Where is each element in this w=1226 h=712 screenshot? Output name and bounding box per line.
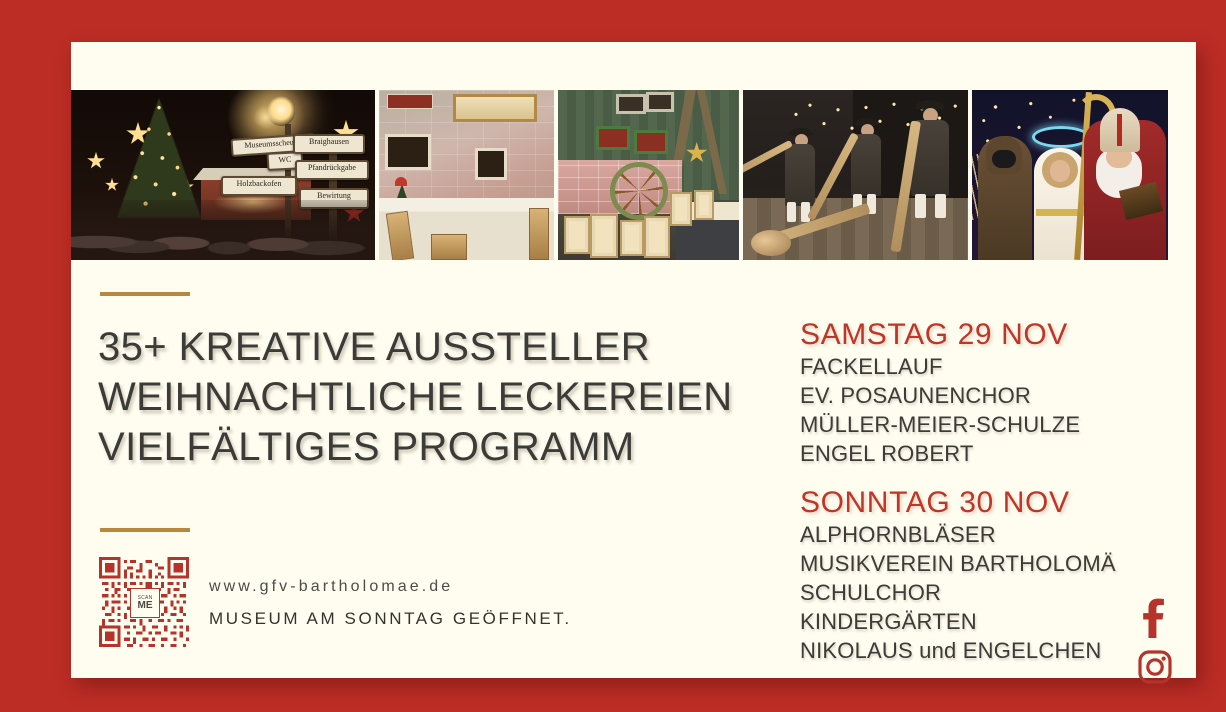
- divider-bottom: [100, 528, 190, 532]
- act-item: MÜLLER-MEIER-SCHULZE: [800, 410, 1130, 439]
- program-day-saturday: SAMSTAG 29 NOV FACKELLAUF EV. POSAUNENCH…: [800, 318, 1130, 468]
- mill-wheel: [610, 162, 668, 220]
- poster-body: 35+ KREATIVE AUSSTELLER WEIHNACHTLICHE L…: [71, 260, 1196, 678]
- wooden-lantern: [670, 192, 692, 226]
- player-boot: [787, 202, 796, 222]
- market-crowd: [71, 200, 375, 260]
- display-counter: [676, 220, 739, 260]
- window: [596, 126, 630, 150]
- window: [616, 94, 646, 114]
- wooden-lantern: [694, 190, 714, 220]
- footer-text-block: www.gfv-bartholomae.de MUSEUM AM SONNTAG…: [209, 578, 572, 629]
- photo-lanterns-timber-house: [558, 90, 739, 260]
- wooden-lantern: [620, 220, 644, 256]
- face-mask: [992, 150, 1016, 168]
- qr-scan-me-badge: SCAN ME: [130, 588, 160, 618]
- divider-top: [100, 292, 190, 296]
- day-title-sunday: SONNTAG 30 NOV: [800, 486, 1130, 520]
- player-body: [785, 144, 815, 206]
- wooden-plank: [529, 208, 549, 260]
- headline-line-2: WEIHNACHTLICHE LECKEREIEN: [98, 372, 733, 422]
- day-title-saturday: SAMSTAG 29 NOV: [800, 318, 1130, 352]
- act-item: ALPHORNBLÄSER: [800, 520, 1130, 549]
- website-url[interactable]: www.gfv-bartholomae.de: [209, 578, 572, 596]
- program-list: SAMSTAG 29 NOV FACKELLAUF EV. POSAUNENCH…: [800, 318, 1130, 665]
- qr-code[interactable]: SCAN ME: [99, 557, 189, 647]
- santa-hat-icon: [395, 177, 407, 186]
- photo-christmas-market-night: Museumsscheune WC Braighausen Pfandrückg…: [71, 90, 375, 260]
- headline-line-1: 35+ KREATIVE AUSSTELLER: [98, 322, 733, 372]
- qr-badge-line-2: ME: [138, 601, 153, 611]
- window: [634, 130, 668, 154]
- wooden-lantern: [564, 216, 590, 254]
- instagram-link[interactable]: [1138, 650, 1172, 684]
- photo-nikolaus-and-angel: [972, 90, 1168, 260]
- act-item: ENGEL ROBERT: [800, 439, 1130, 468]
- direction-sign: Holzbackofen: [221, 176, 297, 196]
- photo-alphorn-players: [743, 90, 969, 260]
- wooden-birdhouse: [431, 234, 467, 260]
- player-body: [851, 134, 881, 196]
- facebook-link[interactable]: [1142, 598, 1168, 638]
- social-links: [1134, 598, 1176, 684]
- wall-banner: [387, 94, 433, 109]
- instagram-icon: [1138, 650, 1172, 684]
- wall-painting: [453, 94, 537, 122]
- act-item: SCHULCHOR: [800, 578, 1130, 607]
- act-item: NIKOLAUS und ENGELCHEN: [800, 636, 1130, 665]
- headline-line-3: VIELFÄLTIGES PROGRAMM: [98, 422, 733, 472]
- window: [385, 134, 431, 170]
- photo-wooden-craft-stall: [379, 90, 554, 260]
- program-spacer: [800, 468, 1130, 486]
- act-item: EV. POSAUNENCHOR: [800, 381, 1130, 410]
- act-item: FACKELLAUF: [800, 352, 1130, 381]
- street-lamp-icon: [267, 96, 295, 126]
- direction-sign: Braighausen: [293, 134, 365, 154]
- player-boot: [915, 194, 926, 218]
- program-day-sunday: SONNTAG 30 NOV ALPHORNBLÄSER MUSIKVEREIN…: [800, 486, 1130, 665]
- museum-opening-note: MUSEUM AM SONNTAG GEÖFFNET.: [209, 609, 572, 629]
- mitre-hat: [1100, 108, 1140, 152]
- poster-canvas: Museumsscheune WC Braighausen Pfandrückg…: [0, 0, 1226, 712]
- act-item: KINDERGÄRTEN: [800, 607, 1130, 636]
- wooden-lantern: [644, 216, 670, 258]
- window: [646, 92, 674, 112]
- photo-strip: Museumsscheune WC Braighausen Pfandrückg…: [71, 90, 1168, 260]
- player-boot: [935, 194, 946, 218]
- page-title: 35+ KREATIVE AUSSTELLER WEIHNACHTLICHE L…: [98, 322, 733, 472]
- direction-sign: Pfandrückgabe: [295, 160, 369, 180]
- act-item: MUSIKVEREIN BARTHOLOMÄ: [800, 549, 1130, 578]
- alphorn-bell: [751, 230, 791, 256]
- angel-face: [1050, 160, 1070, 182]
- poster-card: Museumsscheune WC Braighausen Pfandrückg…: [71, 42, 1196, 678]
- wooden-lantern: [590, 214, 618, 258]
- facebook-icon: [1142, 598, 1168, 638]
